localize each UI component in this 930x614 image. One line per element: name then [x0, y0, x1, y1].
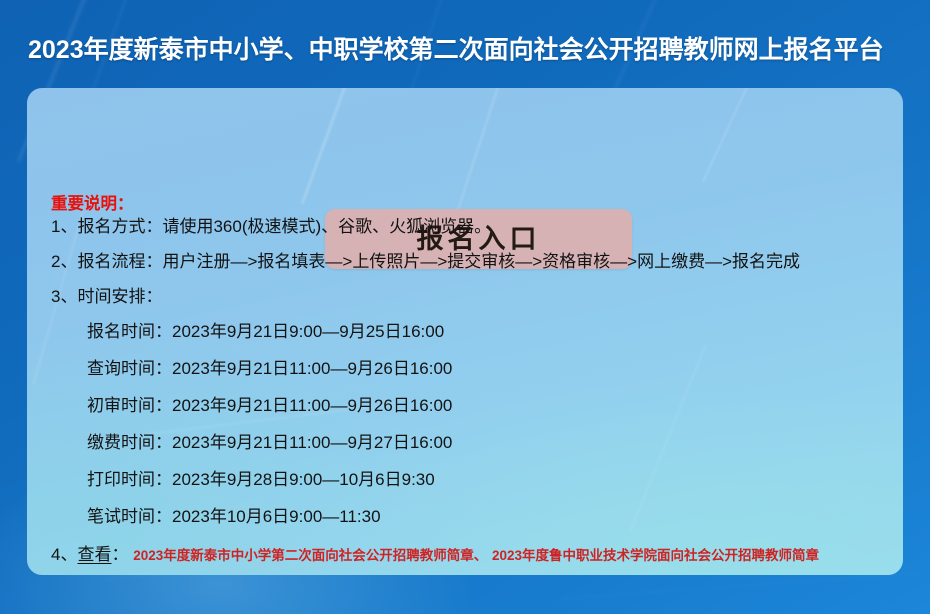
link-announcement-luzhong-vocational-college[interactable]: 2023年度鲁中职业技术学院面向社会公开招聘教师简章: [492, 548, 819, 563]
decorative-streak: [456, 88, 510, 214]
content-card: 报名入口 重要说明： 1、报名方式：请使用360(极速模式)、谷歌、火狐浏览器。…: [27, 88, 903, 575]
item-value: 用户注册—>报名填表—>上传照片—>提交审核—>资格审核—>网上缴费—>报名完成: [162, 252, 800, 271]
link-announcement-primary-secondary-school[interactable]: 2023年度新泰市中小学第二次面向社会公开招聘教师简章: [133, 548, 474, 563]
schedule-label: 笔试时间：: [87, 507, 172, 526]
link-separator: 、: [474, 548, 488, 563]
decorative-streak: [560, 572, 919, 599]
schedule-label: 缴费时间：: [87, 433, 172, 452]
notice-item-registration-flow: 2、报名流程：用户注册—>报名填表—>上传照片—>提交审核—>资格审核—>网上缴…: [51, 253, 800, 270]
item-number: 3、: [51, 287, 77, 306]
notice-item-view-links: 4、查看： 2023年度新泰市中小学第二次面向社会公开招聘教师简章、 2023年…: [51, 546, 819, 563]
item-number: 1、: [51, 217, 77, 236]
schedule-row-printing: 打印时间：2023年9月28日9:00—10月6日9:30: [87, 471, 435, 488]
page-title: 2023年度新泰市中小学、中职学校第二次面向社会公开招聘教师网上报名平台: [28, 30, 884, 66]
schedule-value: 2023年9月21日11:00—9月26日16:00: [172, 359, 452, 378]
schedule-value: 2023年9月28日9:00—10月6日9:30: [172, 470, 435, 489]
notice-heading: 重要说明：: [51, 190, 134, 214]
schedule-row-preliminary-review: 初审时间：2023年9月21日11:00—9月26日16:00: [87, 397, 452, 414]
decorative-streak: [702, 88, 755, 183]
item-number: 4、: [51, 545, 77, 564]
schedule-row-written-exam: 笔试时间：2023年10月6日9:00—11:30: [87, 508, 381, 525]
item-value: 请使用360(极速模式)、谷歌、火狐浏览器。: [162, 217, 491, 236]
schedule-row-registration: 报名时间：2023年9月21日9:00—9月25日16:00: [87, 323, 444, 340]
page-root: 2023年度新泰市中小学、中职学校第二次面向社会公开招聘教师网上报名平台 报名入…: [0, 0, 930, 614]
schedule-row-query: 查询时间：2023年9月21日11:00—9月26日16:00: [87, 360, 452, 377]
item-label: 报名流程：: [77, 252, 162, 271]
item-label: 报名方式：: [77, 217, 162, 236]
schedule-label: 初审时间：: [87, 396, 172, 415]
schedule-label: 报名时间：: [87, 322, 172, 341]
view-colon: ：: [111, 545, 128, 564]
view-label: 查看: [77, 545, 111, 564]
page-header: 2023年度新泰市中小学、中职学校第二次面向社会公开招聘教师网上报名平台: [0, 0, 930, 88]
schedule-label: 打印时间：: [87, 470, 172, 489]
item-label: 时间安排：: [77, 287, 162, 306]
schedule-value: 2023年9月21日9:00—9月25日16:00: [172, 322, 444, 341]
notice-item-registration-method: 1、报名方式：请使用360(极速模式)、谷歌、火狐浏览器。: [51, 218, 491, 235]
decorative-streak: [630, 345, 707, 531]
schedule-value: 2023年9月21日11:00—9月26日16:00: [172, 396, 452, 415]
schedule-value: 2023年9月21日11:00—9月27日16:00: [172, 433, 452, 452]
notice-item-schedule: 3、时间安排：: [51, 288, 162, 305]
schedule-row-payment: 缴费时间：2023年9月21日11:00—9月27日16:00: [87, 434, 452, 451]
decorative-streak: [301, 88, 354, 204]
schedule-label: 查询时间：: [87, 359, 172, 378]
item-number: 2、: [51, 252, 77, 271]
schedule-value: 2023年10月6日9:00—11:30: [172, 507, 381, 526]
